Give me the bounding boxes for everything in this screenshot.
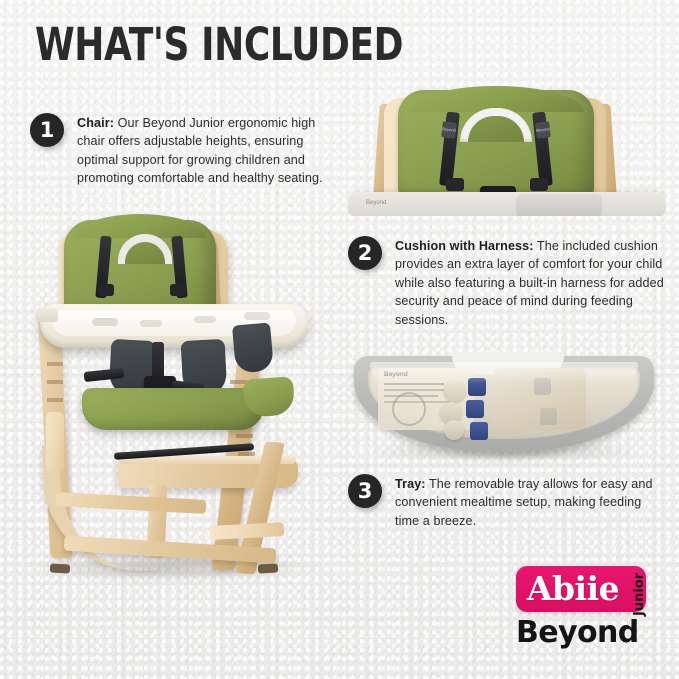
harness-buckle-left bbox=[446, 178, 464, 191]
chair-notch-l1 bbox=[47, 362, 63, 366]
product-photo-tray: Beyond bbox=[348, 352, 666, 464]
chair-notch-l2 bbox=[47, 380, 63, 384]
harness-adjuster-right bbox=[170, 284, 186, 296]
item-2-text: Cushion with Harness: The included cushi… bbox=[395, 237, 667, 329]
logo-brand-text: Abiie bbox=[508, 566, 638, 612]
cushion-seat-panel bbox=[82, 388, 264, 430]
tray-icon-chip-2 bbox=[466, 400, 484, 418]
item-1-text: Chair: Our Beyond Junior ergonomic high … bbox=[77, 114, 339, 188]
tray-latch-left bbox=[36, 308, 58, 322]
infographic-page: WHAT'S INCLUDED Beyond Beyond bbox=[0, 0, 679, 679]
harness-adjuster-left bbox=[98, 284, 114, 296]
harness-buckle-right bbox=[530, 178, 548, 191]
chair-foot-right bbox=[258, 563, 278, 573]
item-1-heading: Chair: bbox=[77, 116, 114, 130]
item-3-body: The removable tray allows for easy and c… bbox=[395, 477, 653, 528]
tray-well-2 bbox=[140, 320, 162, 327]
list-item-chair: 1 Chair: Our Beyond Junior ergonomic hig… bbox=[30, 113, 340, 188]
item-2-heading: Cushion with Harness: bbox=[395, 239, 534, 253]
tray-well-4 bbox=[244, 312, 270, 320]
product-photo-cushion: Beyond Beyond Beyond bbox=[348, 86, 666, 216]
chair-brace-right bbox=[210, 522, 285, 540]
tray-brand-label: Beyond bbox=[366, 198, 400, 208]
tray-gloss-highlight bbox=[370, 362, 638, 384]
chair-notch-r4 bbox=[236, 434, 253, 438]
item-1-body: Our Beyond Junior ergonomic high chair o… bbox=[77, 116, 323, 185]
cushion-photo-tray-insert bbox=[516, 194, 602, 216]
harness-strap-label-right: Beyond bbox=[535, 121, 551, 138]
list-item-cushion: 2 Cushion with Harness: The included cus… bbox=[348, 236, 668, 329]
tray-insert-circle bbox=[392, 392, 426, 426]
logo-suffix-text: Junior bbox=[632, 573, 647, 616]
brand-logo: Abiie Beyond Junior bbox=[508, 566, 658, 658]
tray-icon-chip-3 bbox=[470, 422, 488, 440]
product-photo-chair bbox=[22, 212, 342, 587]
item-3-text: Tray: The removable tray allows for easy… bbox=[395, 475, 663, 530]
harness-strap-label-left: Beyond bbox=[441, 121, 457, 138]
chair-foot-left bbox=[50, 563, 70, 573]
badge-number-1: 1 bbox=[30, 113, 64, 147]
logo-product-text: Beyond bbox=[516, 616, 638, 650]
tray-bubble-3 bbox=[444, 420, 464, 440]
seat-wing-far-right bbox=[232, 322, 274, 373]
tray-well-1 bbox=[92, 318, 118, 326]
chair-front-leg-upper bbox=[46, 412, 64, 472]
tray-well-3 bbox=[194, 316, 216, 323]
list-item-tray: 3 Tray: The removable tray allows for ea… bbox=[348, 474, 668, 530]
chair-notch-l3 bbox=[47, 398, 63, 402]
item-3-heading: Tray: bbox=[395, 477, 426, 491]
page-title: WHAT'S INCLUDED bbox=[35, 22, 403, 68]
badge-number-3: 3 bbox=[348, 474, 382, 508]
badge-number-2: 2 bbox=[348, 236, 382, 270]
